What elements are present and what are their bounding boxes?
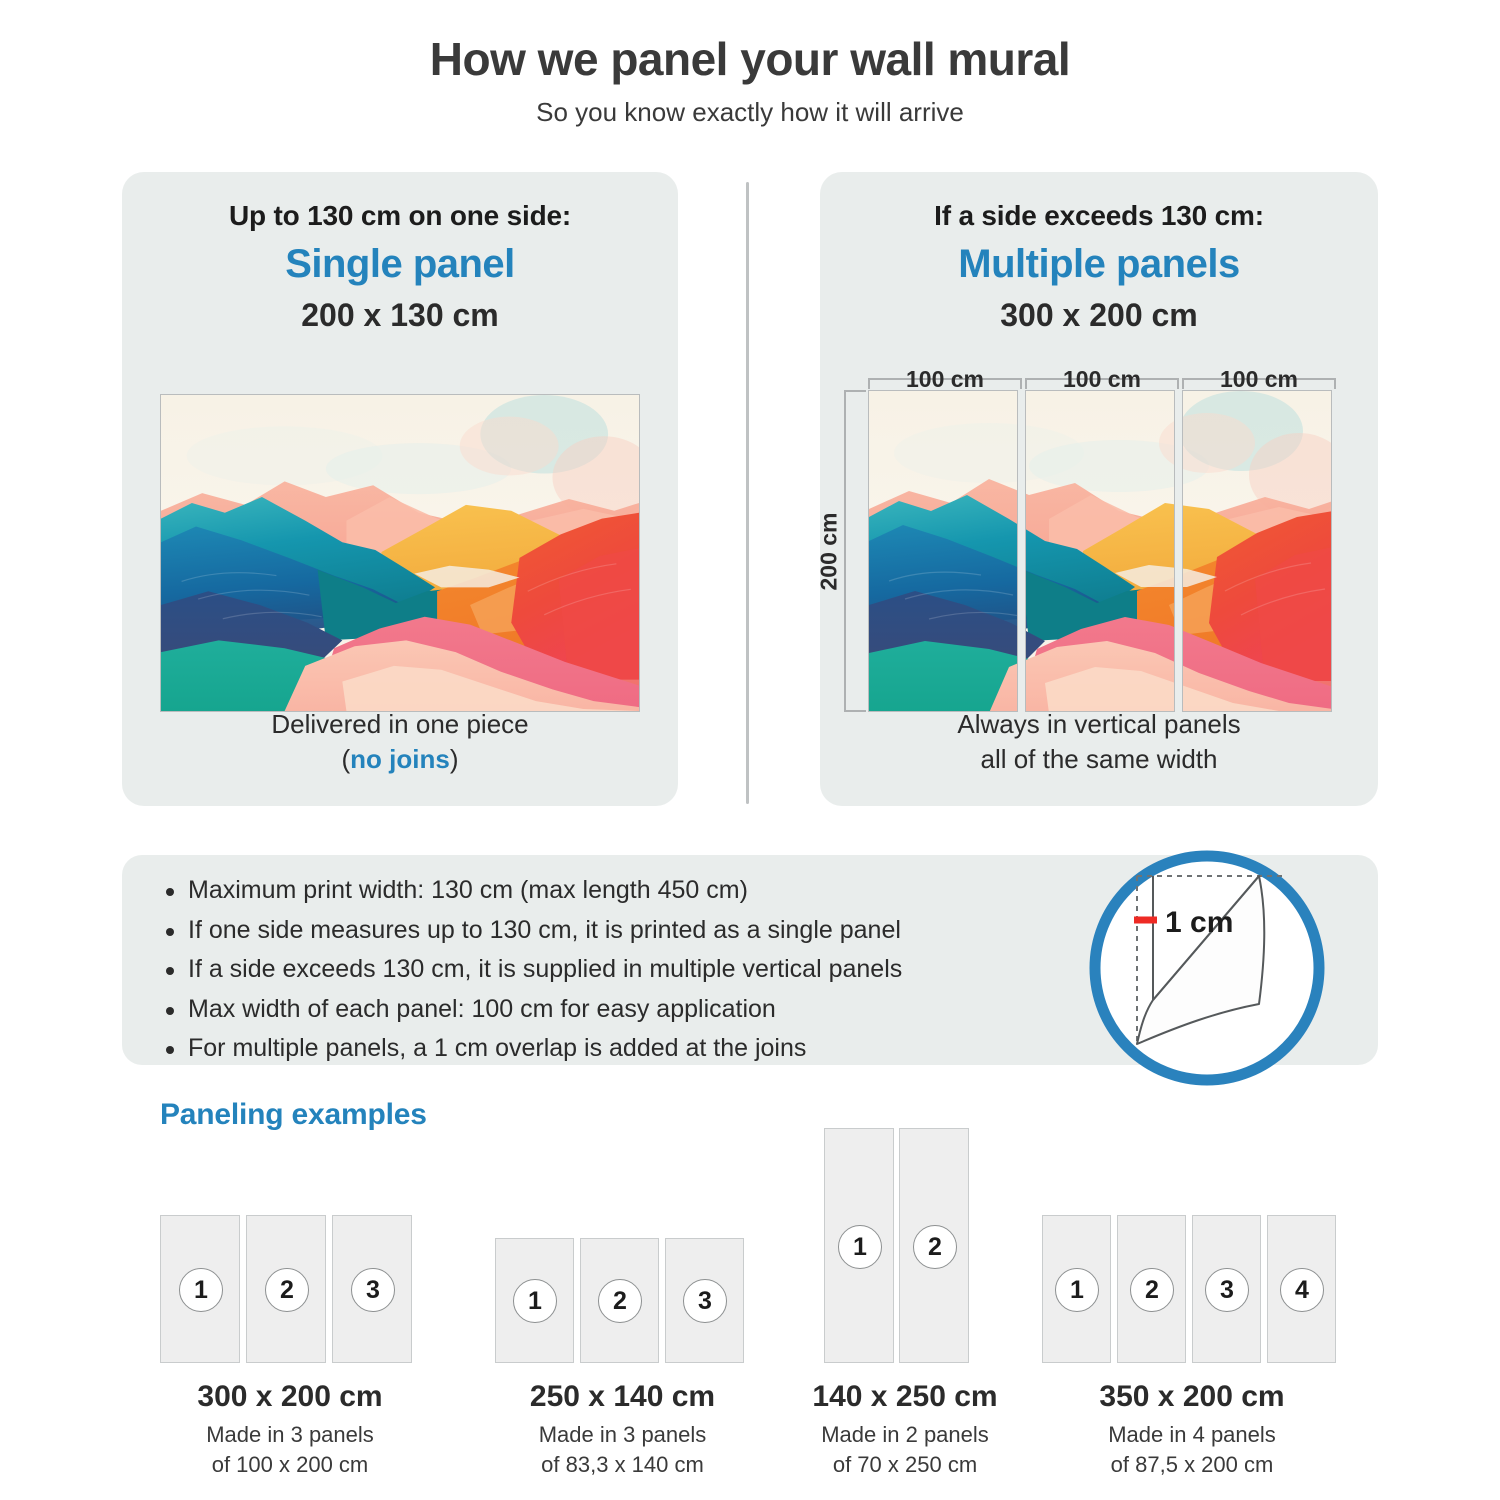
example-subtitle-line2: of 100 x 200 cm [160,1450,420,1480]
single-panel-footer: Delivered in one piece (no joins) [122,707,678,776]
example-subtitle: Made in 2 panels of 70 x 250 cm [800,1420,1010,1479]
panel-width-measure: 100 cm [1182,378,1336,389]
page-title: How we panel your wall mural [0,34,1500,85]
page-header: How we panel your wall mural So you know… [0,34,1500,128]
panel-number-badge: 3 [351,1268,395,1312]
panel-number-badge: 2 [1130,1268,1174,1312]
panel-number-badge: 1 [513,1279,557,1323]
panel-width-measure: 100 cm [868,378,1022,389]
panel-width-label: 100 cm [870,366,1020,393]
list-item: If a side exceeds 130 cm, it is supplied… [160,950,902,990]
example-subtitle-line2: of 87,5 x 200 cm [1042,1450,1342,1480]
example-diagram: 1 2 3 4 [1042,1215,1342,1363]
example-350x200: 1 2 3 4 350 x 200 cm Made in 4 panels of… [1042,1215,1342,1363]
panel-width-label: 100 cm [1027,366,1177,393]
example-250x140: 1 2 3 250 x 140 cm Made in 3 panels of 8… [495,1238,750,1363]
panel-number-badge: 3 [683,1279,727,1323]
panel-number-badge: 2 [913,1225,957,1269]
list-item: For multiple panels, a 1 cm overlap is a… [160,1029,902,1069]
example-diagram: 1 2 3 [495,1238,750,1363]
example-subtitle: Made in 3 panels of 83,3 x 140 cm [495,1420,750,1479]
rules-list: Maximum print width: 130 cm (max length … [160,871,902,1069]
example-subtitle: Made in 4 panels of 87,5 x 200 cm [1042,1420,1342,1479]
page-subtitle: So you know exactly how it will arrive [0,97,1500,128]
paneling-examples-title: Paneling examples [160,1098,427,1132]
panel-number-badge: 2 [265,1268,309,1312]
panel-width-label: 100 cm [1184,366,1334,393]
card-divider [746,182,749,804]
panel-number-badge: 1 [838,1225,882,1269]
example-title: 140 x 250 cm [800,1380,1010,1414]
panel-height-label-wrap: 200 cm [812,390,846,712]
paren-close: ) [450,744,459,774]
single-panel-kicker: Up to 130 cm on one side: [122,200,678,232]
single-panel-footer-line2: (no joins) [122,742,678,776]
mural-preview-single [160,394,640,712]
list-item: Max width of each panel: 100 cm for easy… [160,990,902,1030]
example-title: 350 x 200 cm [1042,1380,1342,1414]
multiple-panels-kicker: If a side exceeds 130 cm: [820,200,1378,232]
mural-preview-panels [868,390,1332,712]
panel-number-badge: 1 [1055,1268,1099,1312]
multiple-panels-footer-line2: all of the same width [820,742,1378,776]
panel-height-measure [844,390,866,712]
example-diagram: 1 2 3 [160,1215,420,1363]
example-300x200: 1 2 3 300 x 200 cm Made in 3 panels of 1… [160,1215,420,1363]
single-panel-dimension: 200 x 130 cm [122,297,678,334]
example-diagram: 1 2 [800,1128,1010,1363]
panel-height-label: 200 cm [816,512,843,590]
example-subtitle-line2: of 83,3 x 140 cm [495,1450,750,1480]
mural-panel-2 [1025,390,1175,712]
multiple-panels-footer: Always in vertical panels all of the sam… [820,707,1378,776]
example-140x250: 1 2 140 x 250 cm Made in 2 panels of 70 … [800,1128,1010,1363]
multiple-panels-card: If a side exceeds 130 cm: Multiple panel… [820,172,1378,806]
panel-width-measure: 100 cm [1025,378,1179,389]
single-panel-headline: Single panel [122,242,678,287]
mural-panel-3 [1182,390,1332,712]
panel-number-badge: 1 [179,1268,223,1312]
overlap-diagram: 1 cm [1087,848,1327,1088]
example-subtitle: Made in 3 panels of 100 x 200 cm [160,1420,420,1479]
example-subtitle-line1: Made in 4 panels [1042,1420,1342,1450]
list-item: If one side measures up to 130 cm, it is… [160,911,902,951]
panel-number-badge: 4 [1280,1268,1324,1312]
example-subtitle-line1: Made in 3 panels [160,1420,420,1450]
example-title: 250 x 140 cm [495,1380,750,1414]
no-joins-accent: no joins [350,744,450,774]
overlap-label: 1 cm [1165,906,1233,939]
example-subtitle-line1: Made in 2 panels [800,1420,1010,1450]
infographic-page: How we panel your wall mural So you know… [0,0,1500,1500]
single-panel-card: Up to 130 cm on one side: Single panel 2… [122,172,678,806]
example-subtitle-line2: of 70 x 250 cm [800,1450,1010,1480]
list-item: Maximum print width: 130 cm (max length … [160,871,902,911]
paren-open: ( [341,744,350,774]
panel-width-measures: 100 cm 100 cm 100 cm [868,360,1332,386]
multiple-panels-footer-line1: Always in vertical panels [820,707,1378,741]
multiple-panels-headline: Multiple panels [820,242,1378,287]
single-panel-footer-line1: Delivered in one piece [122,707,678,741]
multiple-panels-dimension: 300 x 200 cm [820,297,1378,334]
mural-panel-1 [868,390,1018,712]
example-subtitle-line1: Made in 3 panels [495,1420,750,1450]
example-title: 300 x 200 cm [160,1380,420,1414]
panel-number-badge: 2 [598,1279,642,1323]
panel-number-badge: 3 [1205,1268,1249,1312]
